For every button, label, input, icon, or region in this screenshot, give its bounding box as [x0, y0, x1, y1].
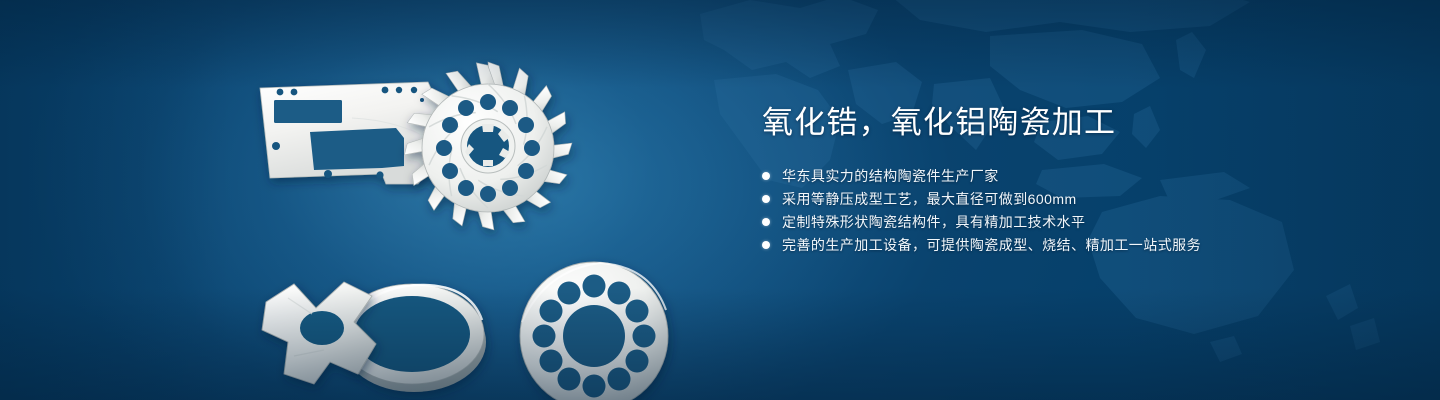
list-item: 完善的生产加工设备，可提供陶瓷成型、烧结、精加工一站式服务 [762, 234, 1382, 257]
bullet-dot-icon [762, 218, 770, 226]
promo-banner: 氧化锆，氧化铝陶瓷加工 华东具实力的结构陶瓷件生产厂家 采用等静压成型工艺，最大… [0, 0, 1440, 400]
feature-text: 采用等静压成型工艺，最大直径可做到600mm [782, 188, 1077, 211]
bullet-dot-icon [762, 172, 770, 180]
bullet-dot-icon [762, 241, 770, 249]
banner-headline: 氧化锆，氧化铝陶瓷加工 [762, 104, 1382, 143]
feature-text: 完善的生产加工设备，可提供陶瓷成型、烧结、精加工一站式服务 [782, 234, 1201, 257]
bullet-dot-icon [762, 195, 770, 203]
list-item: 定制特殊形状陶瓷结构件，具有精加工技术水平 [762, 211, 1382, 234]
feature-text: 定制特殊形状陶瓷结构件，具有精加工技术水平 [782, 211, 1085, 234]
feature-text: 华东具实力的结构陶瓷件生产厂家 [782, 165, 999, 188]
banner-copy: 氧化锆，氧化铝陶瓷加工 华东具实力的结构陶瓷件生产厂家 采用等静压成型工艺，最大… [762, 104, 1382, 257]
list-item: 采用等静压成型工艺，最大直径可做到600mm [762, 188, 1382, 211]
feature-list: 华东具实力的结构陶瓷件生产厂家 采用等静压成型工艺，最大直径可做到600mm 定… [762, 165, 1382, 257]
list-item: 华东具实力的结构陶瓷件生产厂家 [762, 165, 1382, 188]
